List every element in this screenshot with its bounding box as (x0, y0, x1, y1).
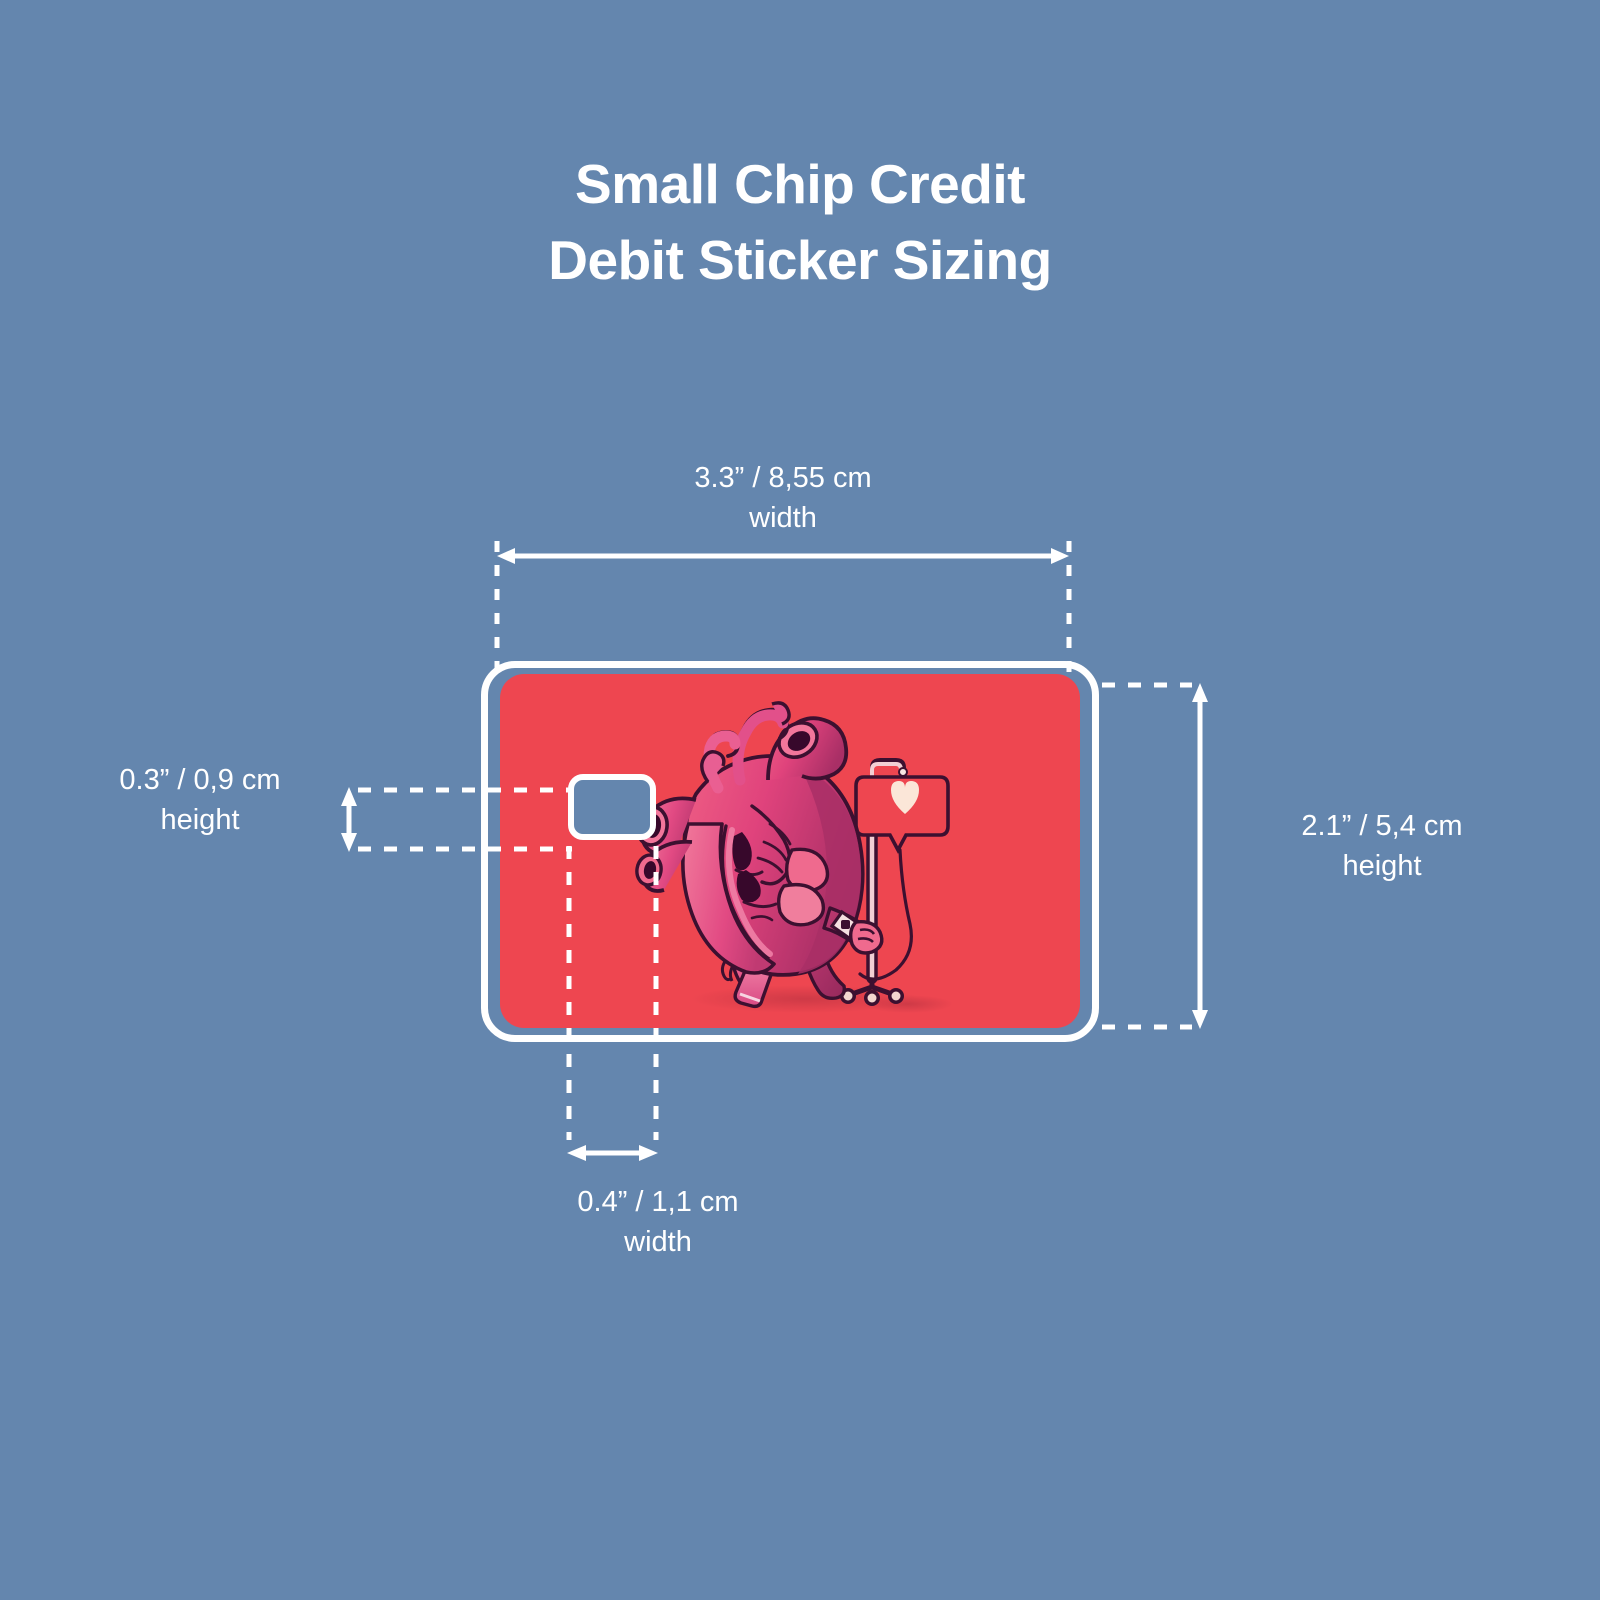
page-title-line-2: Debit Sticker Sizing (0, 222, 1600, 298)
chip-height-label: 0.3” / 0,9 cm height (60, 760, 340, 840)
card-width-value: 3.3” / 8,55 cm (583, 458, 983, 498)
sizing-diagram: Small Chip Credit Debit Sticker Sizing (0, 0, 1600, 1600)
chip-width-unit: width (468, 1222, 848, 1262)
page-title-line-1: Small Chip Credit (0, 146, 1600, 222)
card-width-label: 3.3” / 8,55 cm width (583, 458, 983, 538)
chip-width-value: 0.4” / 1,1 cm (468, 1182, 848, 1222)
card-height-label: 2.1” / 5,4 cm height (1222, 806, 1542, 886)
chip-cutout (568, 774, 656, 840)
page-title: Small Chip Credit Debit Sticker Sizing (0, 146, 1600, 298)
card-height-unit: height (1222, 846, 1542, 886)
card-width-unit: width (583, 498, 983, 538)
card-height-value: 2.1” / 5,4 cm (1222, 806, 1542, 846)
chip-width-label: 0.4” / 1,1 cm width (468, 1182, 848, 1262)
chip-height-value: 0.3” / 0,9 cm (60, 760, 340, 800)
card-outline (481, 661, 1099, 1042)
chip-height-unit: height (60, 800, 340, 840)
